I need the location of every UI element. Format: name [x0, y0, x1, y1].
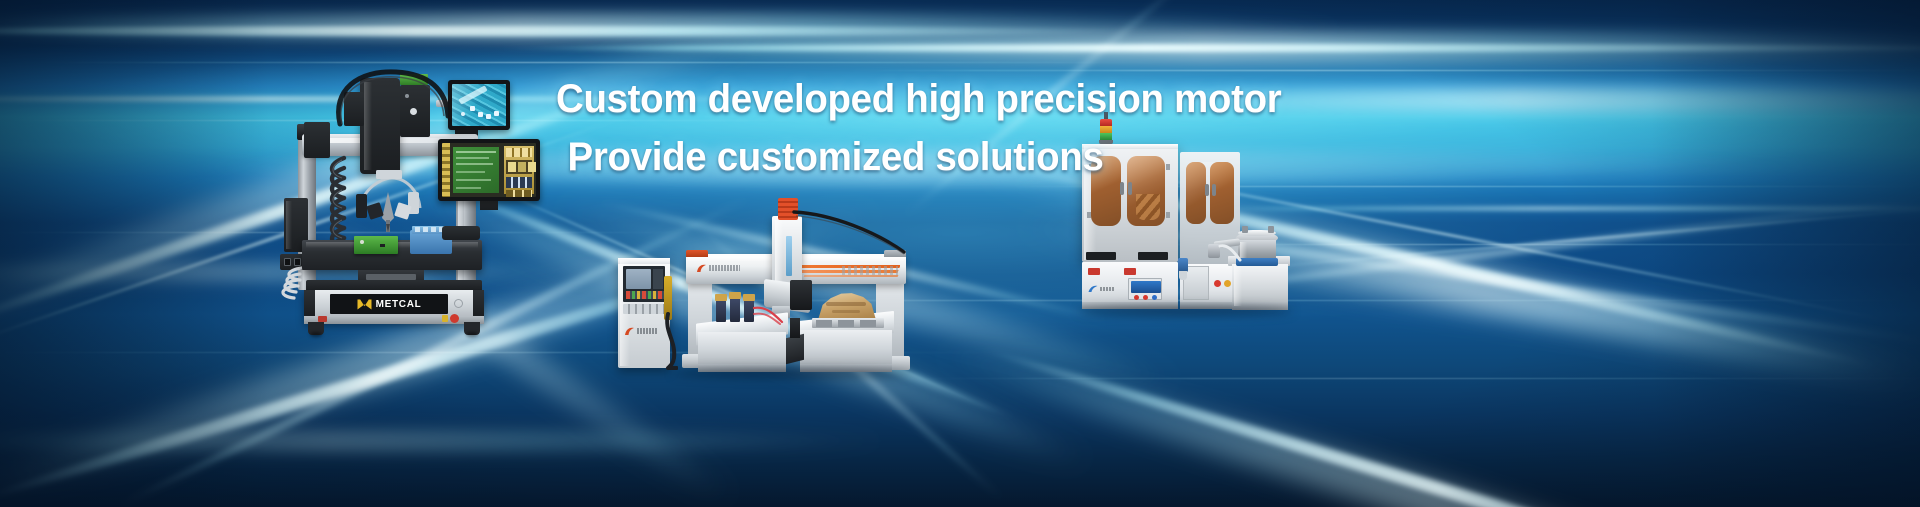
cell-brand-icon	[1088, 285, 1098, 293]
solder-head-nozzle	[348, 166, 428, 234]
hero-banner: METCAL	[0, 0, 1920, 507]
metcal-brand-text: METCAL	[376, 299, 422, 310]
machine-inspection-cell	[1078, 112, 1293, 312]
machine-cnc-gantry-router	[612, 196, 912, 372]
cnc-overhead-cable	[792, 206, 908, 258]
monitor-pcb-closeup	[448, 80, 510, 130]
cell-hmi-panel[interactable]	[1128, 278, 1162, 300]
cnc-beam-brand-icon	[696, 264, 707, 273]
monitor-control-software	[438, 139, 540, 201]
cnc-red-hose	[752, 304, 784, 326]
cnc-hmi-screen[interactable]	[623, 266, 665, 302]
cnc-brand-icon	[624, 327, 635, 336]
monitor-screen-control	[442, 143, 536, 197]
cnc-wood-workpiece	[818, 292, 876, 320]
metcal-logo-icon	[357, 298, 372, 311]
metcal-badge: METCAL	[330, 294, 448, 314]
feeder-hose	[1218, 242, 1244, 264]
monitor-screen-pcb	[452, 84, 506, 126]
cable-loop	[322, 64, 452, 130]
